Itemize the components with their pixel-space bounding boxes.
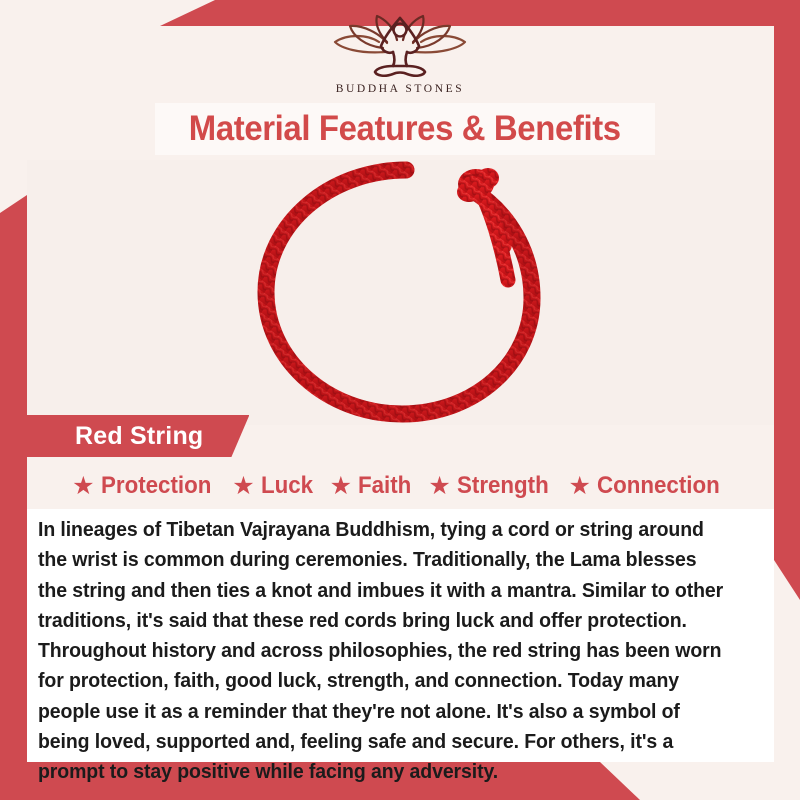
brand-header: BUDDHA STONES: [0, 12, 800, 95]
product-label: Red String: [75, 422, 203, 451]
product-image-area: [27, 160, 774, 425]
star-icon: ★: [428, 474, 450, 499]
star-icon: ★: [330, 474, 352, 499]
feature-item-luck: ★ Luck: [232, 472, 316, 500]
left-red-band-decoration: [0, 195, 27, 800]
feature-item-strength: ★ Strength: [428, 472, 555, 500]
features-row: ★ Protection ★ Luck ★ Faith ★ Strength ★…: [27, 466, 774, 506]
star-icon: ★: [72, 474, 94, 499]
feature-item-faith: ★ Faith: [330, 472, 416, 500]
feature-label: Faith: [358, 472, 411, 500]
feature-item-protection: ★ Protection: [72, 472, 219, 500]
feature-label: Protection: [101, 472, 211, 500]
infographic-canvas: BUDDHA STONES Material Features & Benefi…: [0, 0, 800, 800]
feature-label: Connection: [597, 472, 720, 500]
lotus-meditation-icon: [325, 12, 475, 80]
star-icon: ★: [568, 474, 590, 499]
star-icon: ★: [232, 474, 254, 499]
feature-item-connection: ★ Connection: [568, 472, 728, 500]
feature-label: Strength: [457, 472, 549, 500]
title-banner: Material Features & Benefits: [155, 103, 655, 155]
description-panel: In lineages of Tibetan Vajrayana Buddhis…: [27, 509, 774, 762]
feature-label: Luck: [261, 472, 313, 500]
page-title: Material Features & Benefits: [189, 109, 621, 149]
description-text: In lineages of Tibetan Vajrayana Buddhis…: [38, 515, 724, 788]
brand-name: BUDDHA STONES: [336, 83, 464, 95]
product-label-banner: Red String: [27, 415, 249, 457]
red-string-bracelet-image: [220, 160, 580, 425]
